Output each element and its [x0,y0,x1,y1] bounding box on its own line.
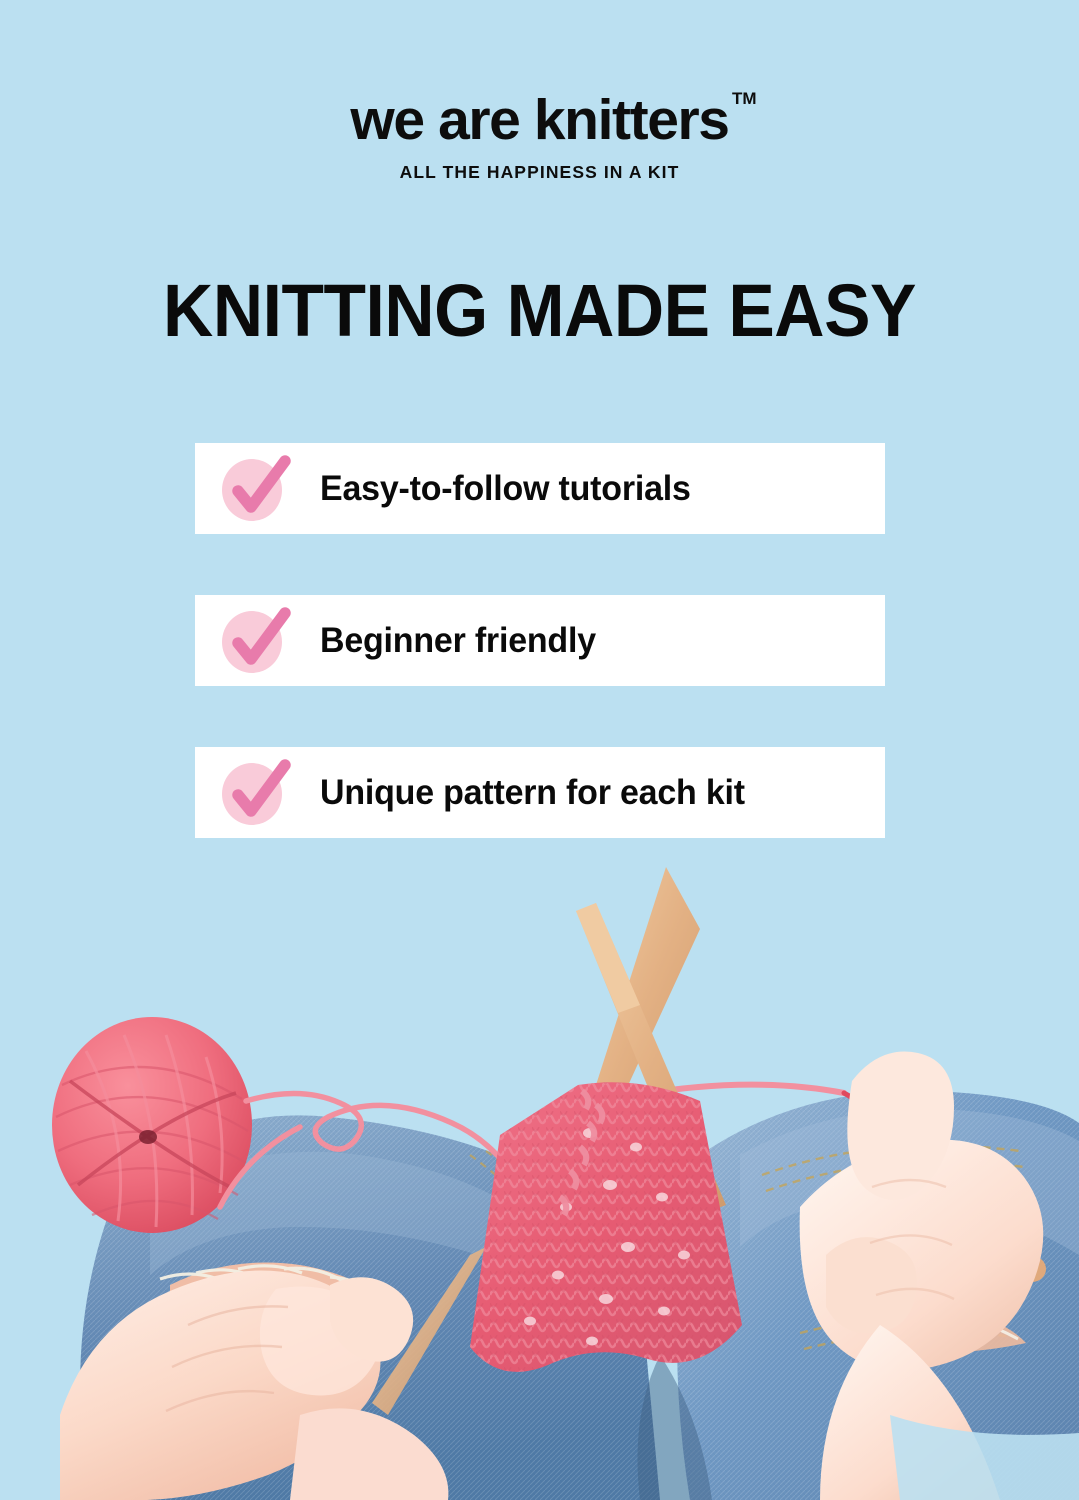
hero-photo-illustration [0,855,1079,1500]
brand-wordmark-text: we are knitters [350,88,728,152]
hero-photo [0,855,1079,1500]
brand-wordmark: we are knitters TM [350,92,728,149]
feature-label: Easy-to-follow tutorials [320,469,691,509]
check-mark-glyph [220,449,296,525]
check-icon [222,457,286,521]
check-icon [222,761,286,825]
feature-label: Beginner friendly [320,621,596,661]
feature-list: Easy-to-follow tutorials Beginner friend… [195,443,885,838]
feature-label: Unique pattern for each kit [320,773,745,813]
check-icon [222,609,286,673]
check-mark-glyph [220,753,296,829]
brand-tagline: ALL THE HAPPINESS IN A KIT [0,162,1079,183]
page-title: KNITTING MADE EASY [32,268,1046,353]
feature-card: Beginner friendly [195,595,885,686]
poster: we are knitters TM ALL THE HAPPINESS IN … [0,0,1079,1500]
check-mark-glyph [220,601,296,677]
trademark-icon: TM [732,90,757,107]
brand-logo: we are knitters TM ALL THE HAPPINESS IN … [0,92,1079,183]
feature-card: Easy-to-follow tutorials [195,443,885,534]
feature-card: Unique pattern for each kit [195,747,885,838]
